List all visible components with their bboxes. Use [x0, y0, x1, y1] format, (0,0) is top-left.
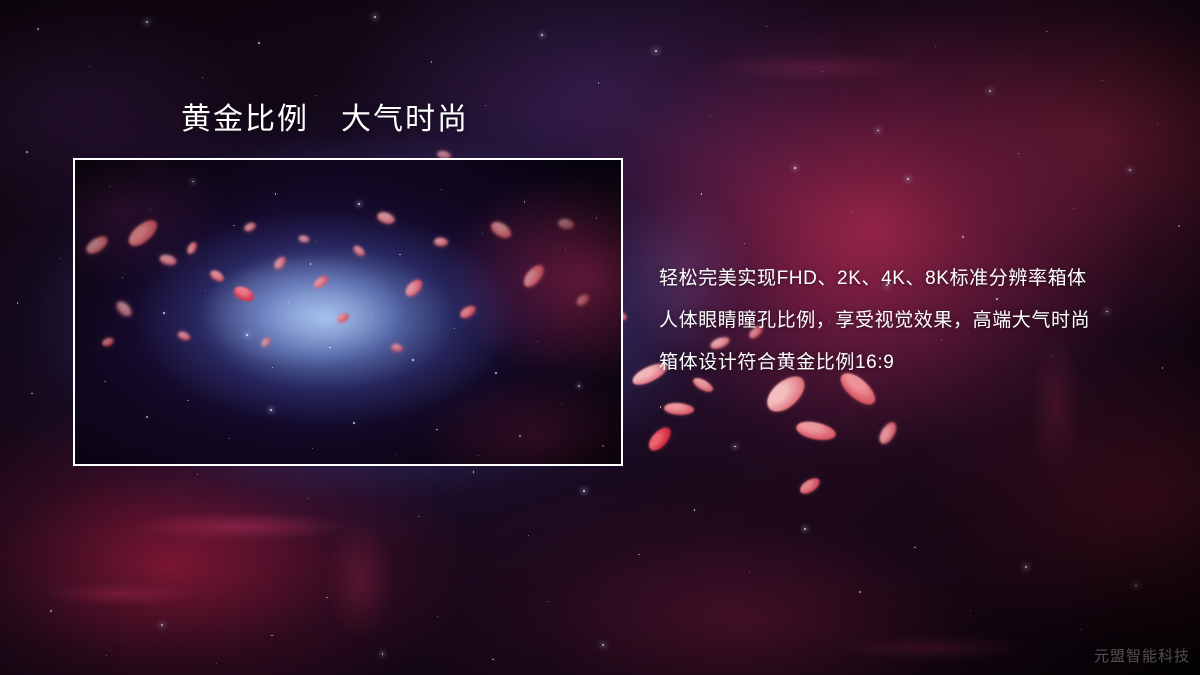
star	[962, 236, 963, 237]
star	[399, 254, 400, 255]
body-line-3: 箱体设计符合黄金比例16:9	[659, 342, 1179, 384]
star	[598, 82, 599, 83]
star	[694, 509, 696, 511]
star	[146, 21, 148, 23]
star	[316, 95, 317, 96]
rose-petal	[376, 209, 397, 227]
rose-petal	[177, 330, 192, 343]
star	[329, 347, 331, 349]
star	[655, 50, 657, 52]
star	[17, 302, 19, 304]
star	[1073, 208, 1074, 209]
star	[970, 610, 971, 611]
rose-petal	[458, 304, 478, 320]
presentation-slide: 黄金比例 大气时尚 轻松完美实现FHD、2K、4K、8K标准分辨率箱体 人体眼睛…	[0, 0, 1200, 675]
star	[749, 572, 750, 573]
star	[596, 217, 597, 218]
star	[766, 26, 768, 28]
star	[395, 454, 396, 455]
star	[382, 653, 384, 655]
star	[1080, 629, 1081, 630]
star	[1025, 566, 1027, 568]
star	[482, 233, 483, 234]
rose-petal	[243, 221, 257, 232]
star	[233, 225, 234, 226]
star	[307, 498, 308, 499]
star	[744, 243, 745, 244]
star	[519, 435, 521, 437]
rose-petal	[797, 476, 822, 496]
star	[326, 597, 327, 598]
star	[804, 528, 806, 530]
star	[436, 429, 438, 431]
star	[561, 404, 562, 405]
star	[541, 34, 543, 36]
star	[192, 181, 194, 183]
rose-petal	[519, 261, 547, 289]
rose-petal	[101, 337, 115, 348]
rose-petal	[83, 234, 110, 257]
star	[524, 201, 526, 203]
rose-petal	[433, 236, 449, 248]
star	[310, 263, 311, 264]
star	[1046, 31, 1047, 32]
star	[312, 448, 313, 449]
star	[37, 28, 39, 30]
star	[60, 258, 61, 259]
rose-petal	[645, 424, 676, 454]
star	[202, 77, 203, 78]
rose-petal	[312, 274, 330, 290]
rose-petal	[794, 417, 837, 444]
star	[26, 151, 28, 153]
image-panel-frame[interactable]	[73, 158, 623, 466]
star	[216, 663, 217, 664]
star	[578, 385, 580, 387]
star	[412, 359, 414, 361]
star	[473, 471, 475, 473]
star	[989, 90, 991, 92]
rose-petal	[298, 234, 311, 244]
star	[418, 516, 419, 517]
rose-petal	[158, 252, 178, 268]
star	[358, 203, 360, 205]
page-title: 黄金比例 大气时尚	[181, 101, 469, 139]
star	[734, 446, 736, 448]
star	[638, 554, 639, 555]
star	[229, 438, 230, 439]
star	[822, 71, 823, 72]
rose-petal	[488, 218, 513, 242]
star	[1102, 80, 1104, 82]
star	[50, 610, 52, 612]
star	[485, 105, 486, 106]
star	[1157, 123, 1158, 124]
star	[288, 302, 289, 303]
star	[454, 328, 455, 329]
star	[914, 547, 916, 549]
star	[270, 409, 272, 411]
star	[1135, 585, 1137, 587]
star	[1178, 225, 1179, 226]
star	[565, 249, 566, 250]
star	[374, 16, 376, 18]
star	[851, 211, 852, 212]
rose-petal	[557, 217, 575, 231]
star	[437, 616, 438, 617]
star	[109, 186, 111, 188]
star	[528, 535, 529, 536]
star	[1129, 169, 1131, 171]
body-line-2: 人体眼睛瞳孔比例，享受视觉效果，高端大气时尚	[659, 300, 1179, 342]
star	[187, 400, 188, 401]
star	[492, 659, 494, 661]
star	[537, 341, 538, 342]
star	[161, 624, 163, 626]
rose-petal	[185, 241, 199, 256]
rose-petal	[272, 255, 288, 271]
body-line-1: 轻松完美实现FHD、2K、4K、8K标准分辨率箱体	[659, 258, 1179, 300]
star	[602, 644, 604, 646]
panel-starfield	[75, 160, 621, 464]
star	[272, 367, 273, 368]
watermark: 元盟智能科技	[1094, 645, 1190, 666]
star	[106, 655, 107, 656]
rose-petal	[402, 277, 425, 299]
star	[431, 61, 432, 62]
star	[935, 46, 936, 47]
star	[794, 167, 796, 169]
star	[877, 130, 879, 132]
rose-petal	[336, 312, 350, 324]
rose-petal	[574, 292, 591, 307]
rose-petal	[663, 401, 694, 417]
star	[31, 393, 33, 395]
star	[146, 416, 148, 418]
body-text-block: 轻松完美实现FHD、2K、4K、8K标准分辨率箱体 人体眼睛瞳孔比例，享受视觉效…	[659, 258, 1179, 384]
star	[907, 178, 909, 180]
panel-petals	[75, 160, 621, 464]
star	[353, 422, 355, 424]
panel-vignette	[75, 160, 621, 464]
star	[701, 193, 703, 195]
star	[197, 474, 198, 475]
rose-petal	[352, 244, 367, 259]
rose-petal	[232, 282, 257, 305]
star	[271, 635, 273, 637]
star	[859, 591, 860, 592]
star	[163, 312, 165, 314]
star	[710, 115, 711, 116]
star	[602, 445, 604, 447]
star	[122, 277, 123, 278]
star	[547, 601, 548, 602]
rose-petal	[260, 336, 273, 349]
star	[316, 241, 317, 242]
rose-petal	[124, 216, 162, 249]
star	[275, 193, 277, 195]
star	[258, 42, 260, 44]
star	[104, 381, 105, 382]
star	[89, 66, 90, 67]
star	[660, 406, 661, 407]
star	[371, 315, 372, 316]
star	[205, 290, 206, 291]
rose-petal	[208, 267, 225, 284]
rose-petal	[875, 420, 900, 447]
star	[150, 209, 151, 210]
star	[478, 455, 479, 456]
star	[441, 189, 443, 191]
star	[1018, 153, 1020, 155]
star	[246, 334, 248, 336]
star	[495, 372, 497, 374]
rose-petal	[114, 298, 134, 319]
star	[583, 490, 585, 492]
rose-petal	[390, 342, 404, 354]
